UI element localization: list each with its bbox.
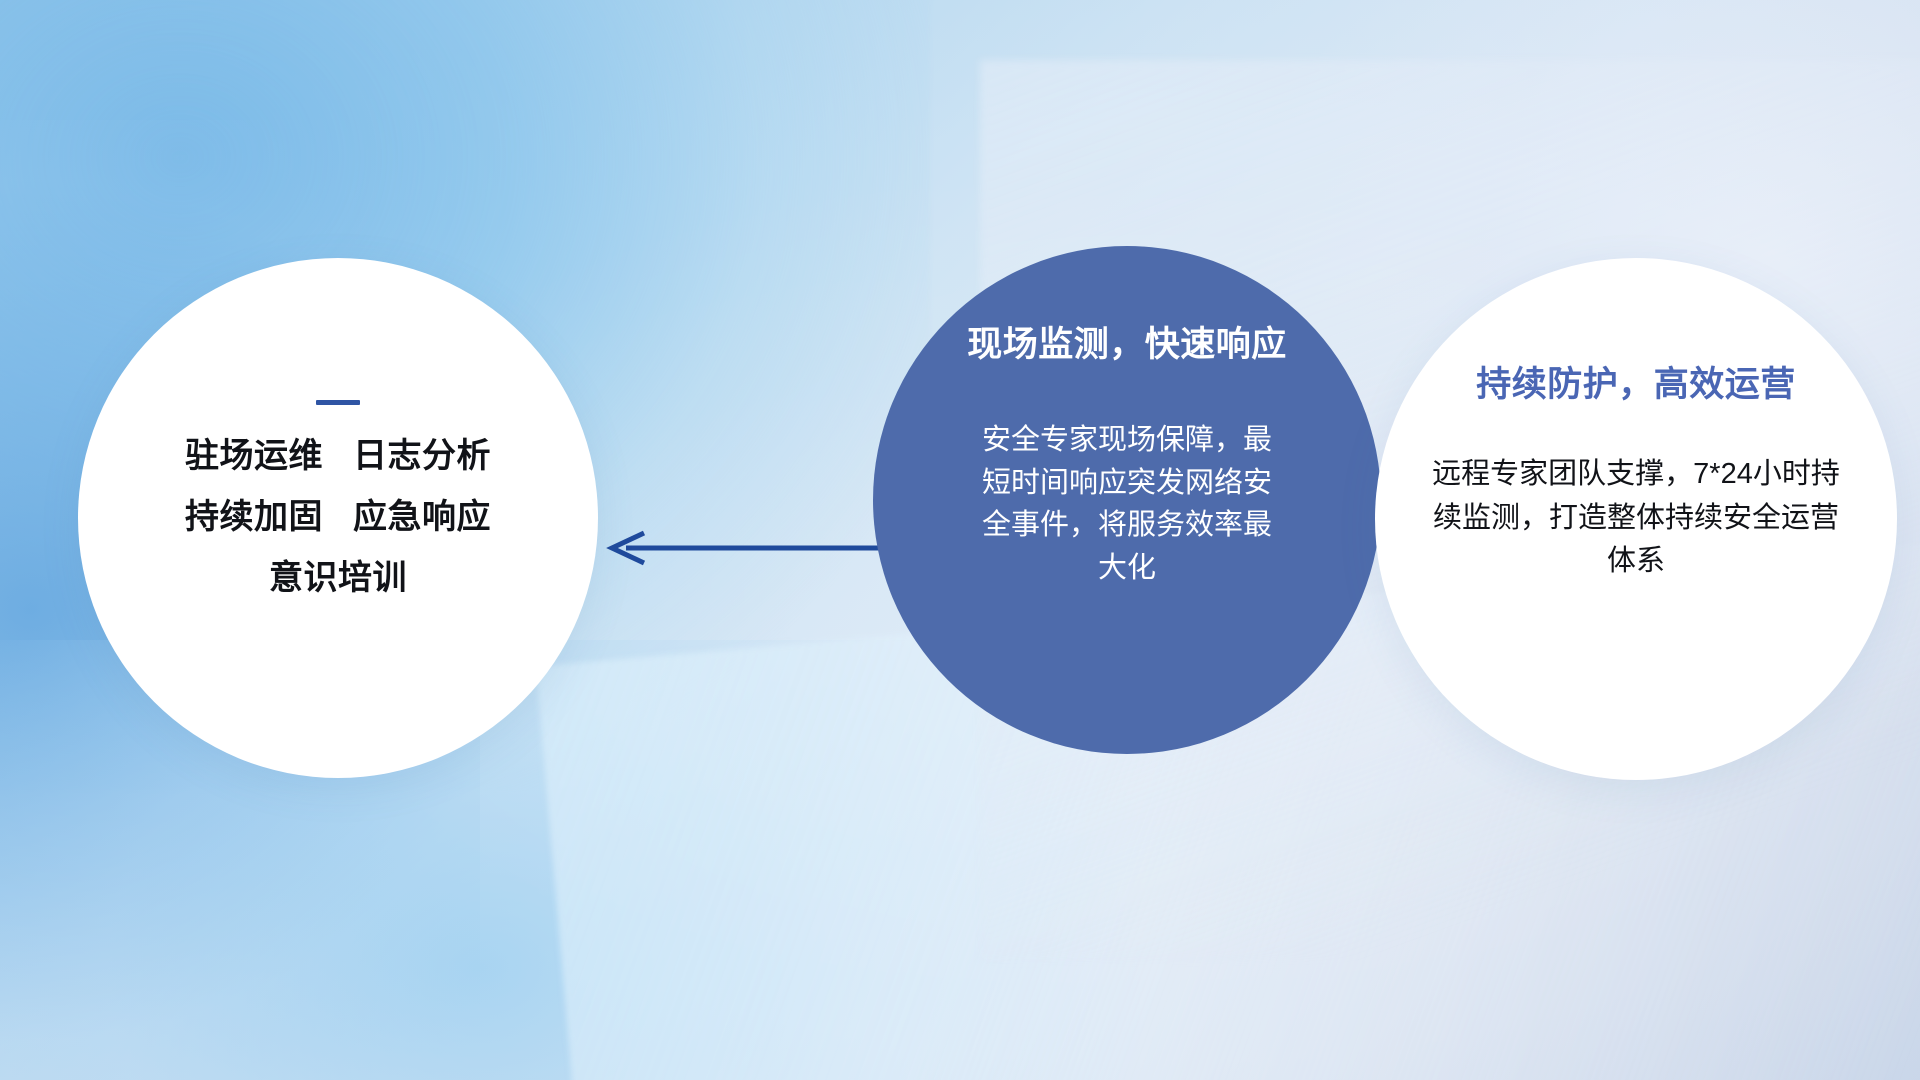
continuous-protection-body: 远程专家团队支撑，7*24小时持续监测，打造整体持续安全运营体系 <box>1426 453 1846 584</box>
capability-item[interactable]: 持续加固 <box>185 498 323 536</box>
capability-item[interactable]: 意识培训 <box>269 559 407 597</box>
onsite-monitoring-circle[interactable]: 现场监测，快速响应 安全专家现场保障，最短时间响应突发网络安全事件，将服务效率最… <box>873 246 1381 754</box>
capability-item[interactable]: 日志分析 <box>353 437 491 475</box>
capability-list: 驻场运维日志分析 持续加固应急响应 意识培训 <box>185 439 491 595</box>
divider-dash <box>316 400 360 405</box>
continuous-protection-circle[interactable]: 持续防护，高效运营 远程专家团队支撑，7*24小时持续监测，打造整体持续安全运营… <box>1375 258 1897 780</box>
capability-item[interactable]: 应急响应 <box>353 498 491 536</box>
capability-item[interactable]: 驻场运维 <box>185 437 323 475</box>
capabilities-circle[interactable]: 驻场运维日志分析 持续加固应急响应 意识培训 <box>78 258 598 778</box>
flow-arrow <box>600 520 890 576</box>
onsite-monitoring-heading: 现场监测，快速响应 <box>967 316 1287 367</box>
capability-row: 持续加固应急响应 <box>185 500 491 534</box>
onsite-monitoring-body: 安全专家现场保障，最短时间响应突发网络安全事件，将服务效率最大化 <box>968 419 1286 590</box>
capability-row: 意识培训 <box>185 561 491 595</box>
capability-row: 驻场运维日志分析 <box>185 439 491 473</box>
diagram-canvas: 驻场运维日志分析 持续加固应急响应 意识培训 现场监测，快速响应 安全专家现场保… <box>0 0 1920 1080</box>
continuous-protection-heading: 持续防护，高效运营 <box>1476 356 1796 407</box>
